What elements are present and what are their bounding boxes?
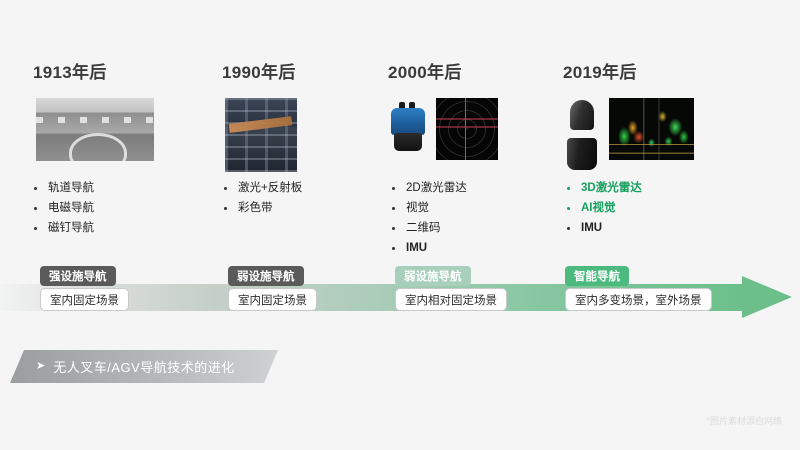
stage-tag: 弱设施导航 (228, 266, 304, 286)
bottom-banner: ➤ 无人叉车/AGV导航技术的进化 (10, 350, 278, 383)
3d-lidar-device-photo (563, 98, 601, 172)
stage-scene-box: 室内相对固定场景 (395, 288, 507, 311)
list-item: IMU (563, 218, 642, 238)
lidar-base (394, 133, 422, 151)
lidar-cylinder (567, 138, 597, 170)
era-bullet-list: 2D激光雷达 视觉 二维码 IMU (388, 178, 467, 258)
list-item: 3D激光雷达 (563, 178, 642, 198)
era-bullet-list: 3D激光雷达 AI视觉 IMU (563, 178, 642, 238)
2d-lidar-device-photo (388, 98, 428, 156)
list-item: 磁钉导航 (30, 218, 94, 238)
era-title: 2000年后 (388, 58, 462, 83)
list-item: 二维码 (388, 218, 467, 238)
3d-point-cloud-view-photo (609, 98, 694, 160)
era-title: 1913年后 (33, 58, 107, 83)
stage-tag: 智能导航 (565, 266, 629, 286)
factory-assembly-line-photo (36, 98, 154, 161)
stage-tag: 强设施导航 (40, 266, 116, 286)
list-item: 彩色带 (220, 198, 302, 218)
list-item: IMU (388, 238, 467, 258)
chevron-right-icon: ➤ (36, 361, 45, 372)
2d-scan-view-photo (436, 98, 498, 160)
arrow-head-icon (742, 276, 792, 318)
stage-scene-box: 室内多变场景，室外场景 (565, 288, 712, 311)
list-item: 轨道导航 (30, 178, 94, 198)
banner-title: 无人叉车/AGV导航技术的进化 (53, 357, 235, 376)
warehouse-racking-photo (225, 98, 297, 172)
list-item: AI视觉 (563, 198, 642, 218)
era-bullet-list: 轨道导航 电磁导航 磁钉导航 (30, 178, 94, 238)
stage-scene-box: 室内固定场景 (40, 288, 129, 311)
stage-tag: 弱设施导航 (395, 266, 471, 286)
era-thumbnails (225, 98, 297, 172)
list-item: 视觉 (388, 198, 467, 218)
stage-scene-box: 室内固定场景 (228, 288, 317, 311)
era-title: 1990年后 (222, 58, 296, 83)
list-item: 激光+反射板 (220, 178, 302, 198)
era-thumbnails (36, 98, 154, 161)
lidar-dome (570, 100, 594, 130)
era-thumbnails (563, 98, 694, 172)
list-item: 2D激光雷达 (388, 178, 467, 198)
slide-canvas: 1913年后 轨道导航 电磁导航 磁钉导航 1990年后 激光+反射板 彩色带 … (0, 0, 800, 450)
footnote-text: *图片素材源自网络 (706, 414, 782, 427)
lidar-body (391, 108, 425, 135)
list-item: 电磁导航 (30, 198, 94, 218)
era-title: 2019年后 (563, 58, 637, 83)
era-bullet-list: 激光+反射板 彩色带 (220, 178, 302, 218)
era-thumbnails (388, 98, 498, 160)
